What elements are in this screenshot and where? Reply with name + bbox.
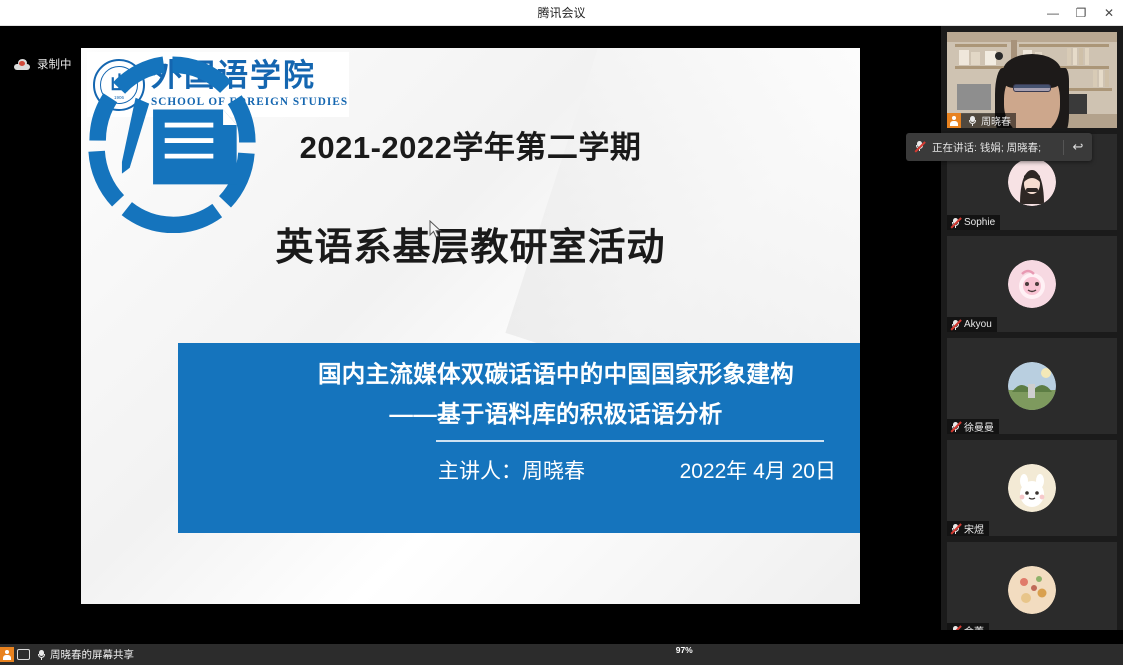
participant-name: 周晓春: [981, 113, 1011, 128]
maximize-button[interactable]: ❐: [1067, 0, 1095, 26]
tencent-meeting-window: 腾讯会议 — ❐ ✕ 录制中 山 1906 外国语学院 SCHOOL O: [0, 0, 1123, 665]
microphone-icon: [967, 115, 978, 127]
slide-title-line1: 国内主流媒体双碳话语中的中国国家形象建构: [270, 355, 842, 389]
window-controls: — ❐ ✕: [1039, 0, 1123, 26]
avatar-hair-top: [1003, 54, 1061, 88]
slide-title-line2: ——基于语料库的积极话语分析: [270, 395, 842, 429]
close-button[interactable]: ✕: [1095, 0, 1123, 26]
black-gap: [0, 630, 1123, 644]
participant-tile-xumanman[interactable]: 徐曼曼: [947, 338, 1117, 434]
banner-divider: [436, 440, 824, 442]
avatar: [1008, 464, 1056, 512]
participant-nametag: Sophie: [947, 215, 1000, 230]
participant-tile-akyou[interactable]: Akyou: [947, 236, 1117, 332]
participant-tile-video[interactable]: 周晓春: [947, 32, 1117, 128]
title-bar: 腾讯会议 — ❐ ✕: [0, 0, 1123, 26]
mouse-cursor: [429, 220, 442, 239]
participant-nametag: 徐曼曼: [947, 419, 999, 434]
slide-speaker: 主讲人：周晓春: [438, 455, 585, 485]
microphone-icon: [36, 649, 47, 661]
speaking-label: 正在讲话: 钱娟; 周晓春;: [932, 140, 1063, 155]
document-pen-circle-icon: [85, 53, 260, 233]
mic-muted-icon: [950, 319, 961, 331]
window-title: 腾讯会议: [0, 0, 1123, 26]
screen-share-icon: [17, 649, 30, 660]
host-person-icon: [947, 113, 961, 128]
cloud-recording-icon: [14, 59, 30, 70]
participant-panel[interactable]: 周晓春 Sophie: [941, 26, 1123, 630]
participant-tile-songyu[interactable]: 宋煜: [947, 440, 1117, 536]
mic-muted-icon: [950, 523, 961, 535]
participant-nametag: 宋煜: [947, 521, 989, 536]
screen-share-label: 周晓春的屏幕共享: [50, 647, 134, 662]
participant-nametag: 周晓春: [947, 113, 1016, 128]
minimize-button[interactable]: —: [1039, 0, 1067, 26]
mic-muted-icon: [906, 140, 932, 154]
glasses-icon: [1013, 84, 1051, 92]
participant-nametag: Akyou: [947, 317, 997, 332]
shared-screen-area[interactable]: 录制中 山 1906 外国语学院 SCHOOL OF FOREIGN STUDI…: [0, 26, 941, 604]
recording-indicator: 录制中: [14, 56, 72, 72]
participant-name: Akyou: [964, 319, 992, 330]
avatar: [1008, 158, 1056, 206]
participant-name: Sophie: [964, 217, 995, 228]
avatar: [1008, 362, 1056, 410]
mic-muted-icon: [950, 421, 961, 433]
participant-name: 徐曼曼: [964, 419, 994, 434]
slide-date: 2022年 4月 20日: [680, 455, 836, 485]
screen-share-chip[interactable]: 周晓春的屏幕共享: [0, 644, 142, 665]
presentation-slide: 山 1906 外国语学院 SCHOOL OF FOREIGN STUDIES 2…: [81, 48, 860, 604]
participant-tile-jinlei[interactable]: 金蕾: [947, 542, 1117, 638]
battery-percent: 97%: [676, 645, 693, 655]
back-arrow-icon[interactable]: ↩: [1064, 139, 1092, 155]
participant-name: 宋煜: [964, 521, 984, 536]
slide-title-banner: 国内主流媒体双碳话语中的中国国家形象建构 ——基于语料库的积极话语分析 主讲人：…: [178, 343, 860, 533]
screen-share-bar[interactable]: 周晓春的屏幕共享: [0, 644, 1123, 665]
recording-label: 录制中: [37, 56, 72, 72]
avatar: [1008, 260, 1056, 308]
avatar: [1008, 566, 1056, 614]
speaking-toast[interactable]: 正在讲话: 钱娟; 周晓春; ↩: [906, 133, 1092, 161]
mic-muted-icon: [950, 217, 961, 229]
host-person-icon: [0, 647, 14, 662]
